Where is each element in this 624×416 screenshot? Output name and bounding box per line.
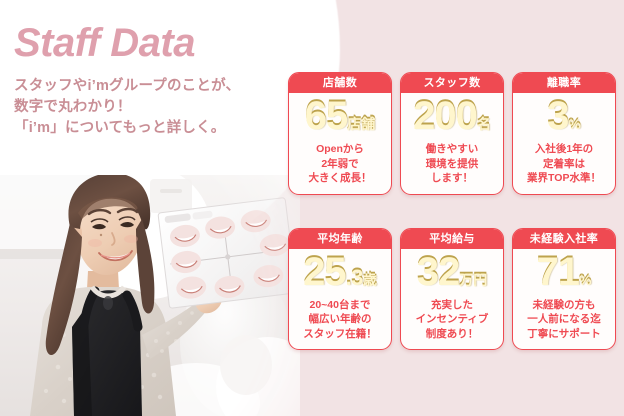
stat-card-header: スタッフ数 (401, 73, 503, 93)
stat-number-unit: 万円 (459, 272, 487, 286)
stat-card-stores[interactable]: 店舗数 65 店舗 Openから 2年弱で 大きく成長！ (288, 72, 392, 195)
stat-card-header: 店舗数 (289, 73, 391, 93)
stat-number-sub: .3 (346, 266, 363, 288)
desc-line-2: 幅広い年齢の (303, 312, 377, 327)
desc-line-2: 定着率は (527, 157, 601, 172)
stat-number-main: 71 (537, 251, 580, 291)
staff-photo-mask (0, 175, 300, 416)
stat-card-description: 20~40台まで 幅広い年齢の スタッフ在籍！ (300, 297, 380, 350)
desc-line-3: 制度あり！ (416, 327, 489, 342)
staff-photo (0, 175, 300, 416)
desc-line-2: 2年弱で (309, 157, 372, 172)
headline-block: Staff Data スタッフやi’mグループのことが、 数字で丸わかり！ 「i… (14, 22, 314, 139)
subtitle-line-1: スタッフやi’mグループのことが、 (14, 76, 314, 97)
stat-card-description: 未経験の方も 一人前になる迄 丁寧にサポート (524, 297, 604, 350)
desc-line-1: 20~40台まで (303, 298, 377, 313)
stat-card-row-top: 店舗数 65 店舗 Openから 2年弱で 大きく成長！ スタッフ数 200 名 (288, 72, 616, 195)
stat-card-description: 入社後1年の 定着率は 業界TOP水準！ (524, 141, 604, 194)
stat-card-value: 32 万円 (417, 251, 488, 297)
stat-number-unit: 歳 (363, 272, 377, 286)
desc-line-1: Openから (309, 142, 372, 157)
stat-card-header: 離職率 (513, 73, 615, 93)
stat-card-description: 充実した インセンティブ 制度あり！ (413, 297, 492, 350)
stat-card-value: 65 店舗 (305, 95, 376, 141)
desc-line-1: 未経験の方も (527, 298, 601, 313)
desc-line-1: 充実した (416, 298, 489, 313)
desc-line-2: 一人前になる迄 (527, 312, 601, 327)
stat-number-unit: % (579, 272, 591, 286)
stat-card-header: 平均年齢 (289, 229, 391, 249)
page-title: Staff Data (14, 22, 314, 64)
stat-number-main: 200 (413, 95, 477, 135)
subtitle-line-3: 「i’m」についてもっと詳しく。 (14, 118, 314, 139)
stat-card-turnover-rate[interactable]: 離職率 3 % 入社後1年の 定着率は 業界TOP水準！ (512, 72, 616, 195)
stat-number-main: 32 (417, 251, 460, 291)
desc-line-2: 環境を提供 (426, 157, 479, 172)
stat-card-value: 200 名 (413, 95, 491, 141)
stat-card-description: 働きやすい 環境を提供 します！ (423, 141, 482, 194)
stat-card-header: 平均給与 (401, 229, 503, 249)
subtitle-line-2: 数字で丸わかり！ (14, 97, 314, 118)
desc-line-1: 働きやすい (426, 142, 479, 157)
stat-number-unit: 店舗 (347, 116, 375, 130)
stat-card-inexperienced-hire-rate[interactable]: 未経験入社率 71 % 未経験の方も 一人前になる迄 丁寧にサポート (512, 228, 616, 351)
stat-cards-grid: 店舗数 65 店舗 Openから 2年弱で 大きく成長！ スタッフ数 200 名 (288, 72, 616, 350)
desc-line-2: インセンティブ (416, 312, 489, 327)
staff-data-banner: Staff Data スタッフやi’mグループのことが、 数字で丸わかり！ 「i… (0, 0, 624, 416)
desc-line-3: 大きく成長！ (309, 171, 372, 186)
stat-card-value: 25 .3 歳 (303, 251, 377, 297)
stat-number-unit: 名 (477, 116, 491, 130)
desc-line-3: スタッフ在籍！ (303, 327, 377, 342)
stat-card-row-bottom: 平均年齢 25 .3 歳 20~40台まで 幅広い年齢の スタッフ在籍！ 平均給… (288, 228, 616, 351)
stat-card-staff-count[interactable]: スタッフ数 200 名 働きやすい 環境を提供 します！ (400, 72, 504, 195)
stat-card-description: Openから 2年弱で 大きく成長！ (306, 141, 375, 194)
stat-card-value: 3 % (547, 95, 581, 141)
stat-card-value: 71 % (537, 251, 592, 297)
stat-number-main: 65 (305, 95, 348, 135)
stat-number-main: 3 (547, 95, 568, 135)
page-subtitle: スタッフやi’mグループのことが、 数字で丸わかり！ 「i’m」についてもっと詳… (14, 76, 314, 139)
stat-number-unit: % (568, 116, 580, 130)
desc-line-3: 丁寧にサポート (527, 327, 601, 342)
stat-card-average-age[interactable]: 平均年齢 25 .3 歳 20~40台まで 幅広い年齢の スタッフ在籍！ (288, 228, 392, 351)
desc-line-3: します！ (426, 171, 479, 186)
stat-card-header: 未経験入社率 (513, 229, 615, 249)
stat-card-average-salary[interactable]: 平均給与 32 万円 充実した インセンティブ 制度あり！ (400, 228, 504, 351)
staff-photo-illustration (0, 175, 300, 416)
desc-line-1: 入社後1年の (527, 142, 601, 157)
stat-number-main: 25 (303, 251, 346, 291)
desc-line-3: 業界TOP水準！ (527, 171, 601, 186)
